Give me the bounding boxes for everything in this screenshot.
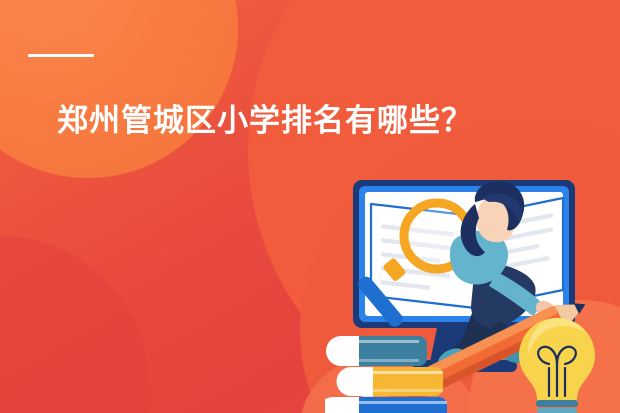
accent-rule [28,54,94,57]
background-circle-top-left [0,0,238,178]
book-stack-icon [325,336,447,413]
study-search-illustration [325,168,620,413]
page-title: 郑州管城区小学排名有哪些？ [57,104,473,140]
background-blob-lower-left [0,236,150,413]
lightbulb-icon [519,318,595,413]
promo-banner: 郑州管城区小学排名有哪些？ [0,0,620,413]
